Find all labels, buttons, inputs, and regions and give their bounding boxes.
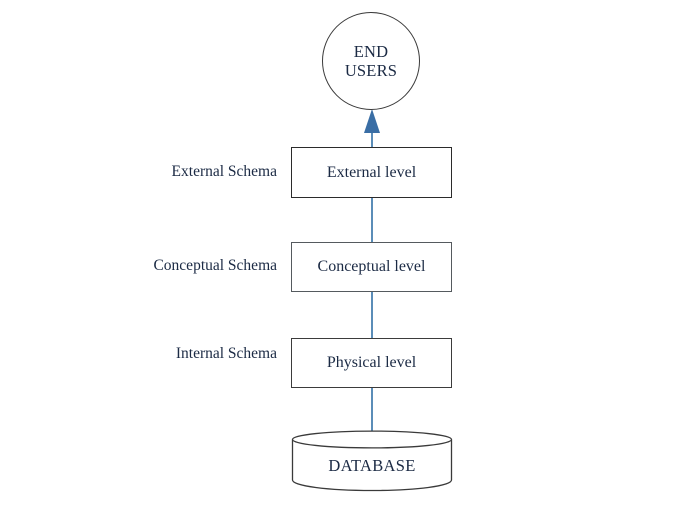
arrowhead-icon	[364, 109, 380, 133]
external-level-box: External level	[291, 147, 452, 198]
schema-label-conceptual: Conceptual Schema	[37, 257, 277, 275]
database-label: DATABASE	[291, 430, 453, 492]
schema-label-external: External Schema	[37, 163, 277, 181]
physical-level-box: Physical level	[291, 338, 452, 388]
architecture-diagram: END USERS External Schema Conceptual Sch…	[0, 0, 698, 512]
schema-label-internal: Internal Schema	[37, 345, 277, 363]
end-users-line-2: USERS	[345, 61, 397, 80]
conceptual-level-box: Conceptual level	[291, 242, 452, 292]
end-users-line-1: END	[354, 42, 389, 61]
database-cylinder: DATABASE	[291, 430, 453, 492]
end-users-node: END USERS	[322, 12, 420, 110]
